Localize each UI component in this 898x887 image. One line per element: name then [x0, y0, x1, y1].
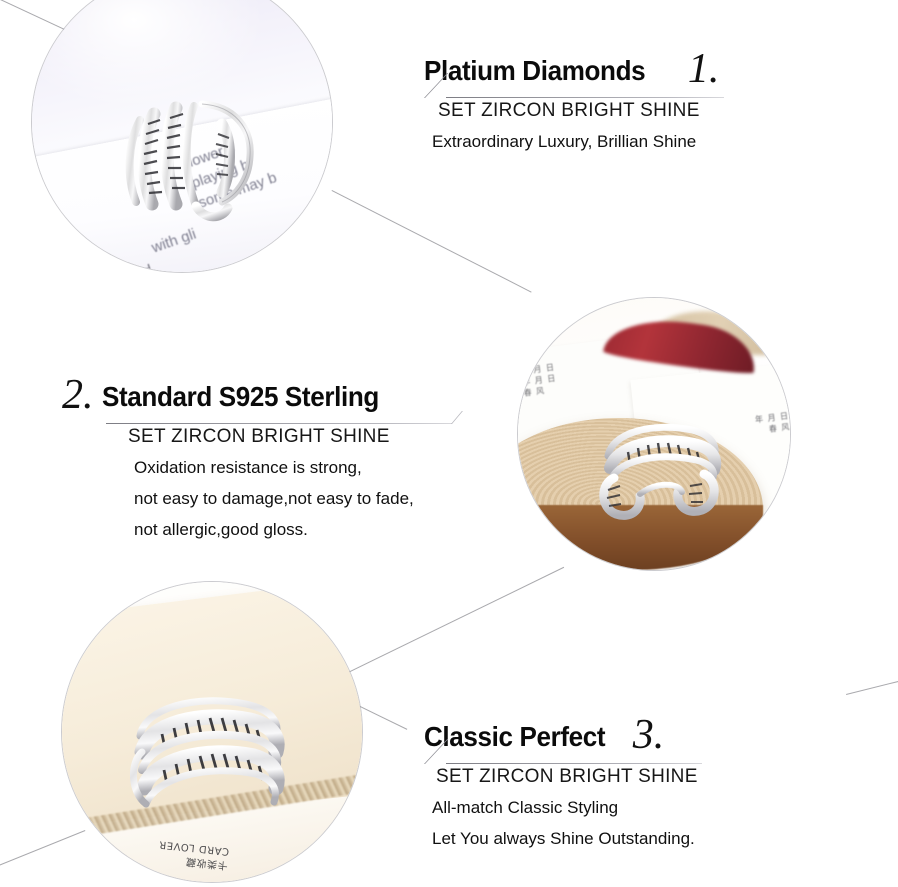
feature-two-heading: 2. Standard S925 Sterling [62, 378, 452, 412]
feature-one-heading: Platium Diamonds 1. [424, 52, 724, 86]
feature-two-number: 2. [62, 378, 94, 412]
feature-three-rule [424, 752, 702, 764]
feature-two-body-line: not easy to damage,not easy to fade, [134, 483, 452, 514]
ring-illustration-one [110, 80, 270, 230]
rule-flat-line [446, 97, 724, 98]
ring-illustration-two [594, 416, 724, 526]
feature-one-body-line: Extraordinary Luxury, Brillian Shine [432, 126, 724, 157]
feature-three-number: 3. [633, 718, 665, 752]
feature-three-body-line: Let You always Shine Outstanding. [432, 823, 702, 854]
feature-three-body: All-match Classic Styling Let You always… [432, 792, 702, 854]
ring-illustration-three [118, 678, 298, 838]
rule-slant-right [437, 411, 463, 424]
feature-one-number: 1. [688, 52, 720, 86]
feature-block-two: 2. Standard S925 Sterling SET ZIRCON BRI… [62, 378, 452, 545]
feature-one-rule [424, 86, 724, 98]
rule-flat-line [446, 763, 702, 764]
infographic-page: flower c playing b some may b sunshine; … [0, 0, 898, 887]
feature-two-body-line: not allergic,good gloss. [134, 514, 452, 545]
feature-two-title: Standard S925 Sterling [102, 382, 379, 412]
photo-ring-on-wood-slice: 年 月 日 年 月 日 春 风 年 月 日 春 风 [518, 298, 790, 570]
photo-ring-on-book: flower c playing b some may b sunshine; … [32, 0, 332, 272]
feature-block-one: Platium Diamonds 1. SET ZIRCON BRIGHT SH… [424, 52, 724, 157]
feature-two-body-line: Oxidation resistance is strong, [134, 452, 452, 483]
feature-one-body: Extraordinary Luxury, Brillian Shine [432, 126, 724, 157]
connector-line-two-to-three [348, 567, 564, 673]
feature-two-rule [106, 412, 452, 424]
feature-one-subtitle: SET ZIRCON BRIGHT SHINE [438, 98, 724, 124]
connector-line-one-to-two [332, 190, 532, 293]
feature-two-subtitle: SET ZIRCON BRIGHT SHINE [128, 424, 452, 450]
rule-flat-line [106, 423, 452, 424]
feature-two-body: Oxidation resistance is strong, not easy… [134, 452, 452, 545]
feature-three-subtitle: SET ZIRCON BRIGHT SHINE [436, 764, 702, 790]
feature-three-body-line: All-match Classic Styling [432, 792, 702, 823]
feature-block-three: Classic Perfect 3. SET ZIRCON BRIGHT SHI… [424, 718, 702, 854]
connector-line-right-edge [846, 677, 898, 695]
photo-ring-on-envelope: 卡类收藏 CARD LOVER [62, 582, 362, 882]
